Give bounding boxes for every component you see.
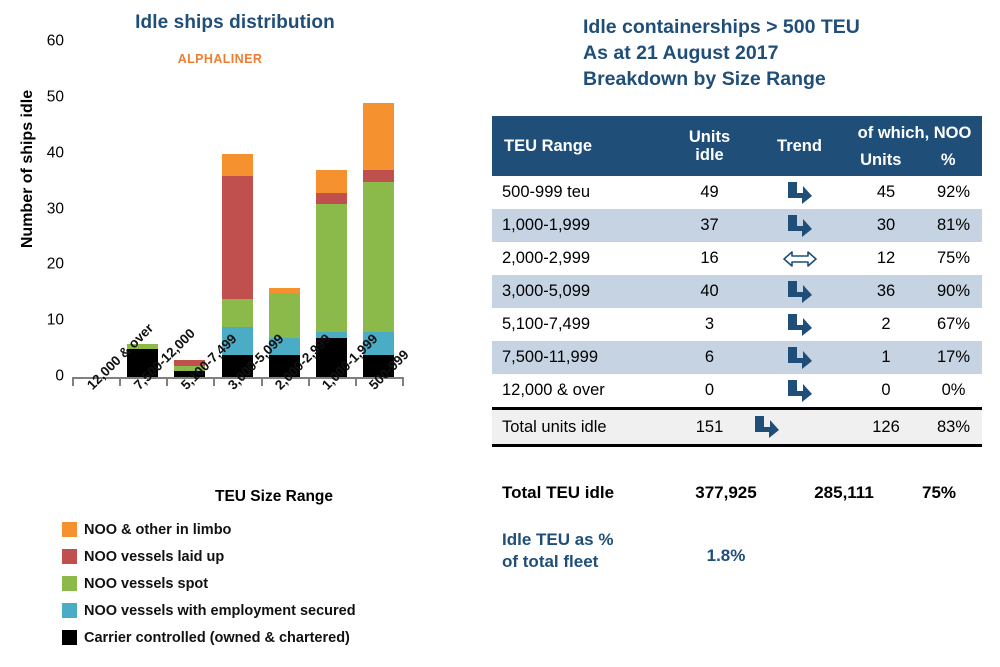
cell-trend bbox=[752, 275, 847, 308]
report-title-line-2: As at 21 August 2017 bbox=[583, 40, 1000, 66]
header-units-idle: Units idle bbox=[667, 116, 752, 176]
y-tick-0: 0 bbox=[55, 368, 64, 386]
table-total-row: Total units idle15112683% bbox=[492, 409, 982, 446]
legend-item: NOO vessels laid up bbox=[62, 543, 356, 570]
trend-down-icon bbox=[785, 345, 815, 371]
x-axis-labels: 12,000 & over7,500-12,0005,100-7,4993,00… bbox=[72, 382, 412, 492]
table-row: 2,000-2,999161275% bbox=[492, 242, 982, 275]
cell-noo-units: 12 bbox=[847, 242, 925, 275]
chart-title: Idle ships distribution bbox=[0, 12, 470, 34]
bar-segment bbox=[269, 293, 300, 338]
y-tick-60: 60 bbox=[47, 33, 64, 51]
trend-down-icon bbox=[785, 279, 815, 305]
table-row: 1,000-1,999373081% bbox=[492, 209, 982, 242]
bar-segment bbox=[316, 170, 347, 192]
header-noo-units: Units bbox=[847, 151, 915, 170]
cell-noo-units: 0 bbox=[847, 374, 925, 409]
cell-teu-range: 3,000-5,099 bbox=[492, 275, 667, 308]
header-teu-range: TEU Range bbox=[492, 116, 667, 176]
cell-total-noo-pct: 83% bbox=[925, 409, 982, 446]
legend-item: NOO vessels spot bbox=[62, 570, 356, 597]
report-title-line-1: Idle containerships > 500 TEU bbox=[583, 14, 1000, 40]
table-row: 12,000 & over000% bbox=[492, 374, 982, 409]
trend-down-icon bbox=[785, 180, 815, 206]
legend-label: NOO vessels laid up bbox=[84, 549, 224, 565]
cell-noo-pct: 17% bbox=[925, 341, 982, 374]
y-tick-10: 10 bbox=[47, 312, 64, 330]
total-teu-noo-value: 285,111 bbox=[785, 483, 903, 503]
y-tick-20: 20 bbox=[47, 256, 64, 274]
table-row: 7,500-11,9996117% bbox=[492, 341, 982, 374]
legend-item: NOO & other in limbo bbox=[62, 516, 356, 543]
table-total-body: Total units idle15112683% bbox=[492, 409, 982, 446]
legend-swatch-icon bbox=[62, 522, 77, 537]
cell-teu-range: 12,000 & over bbox=[492, 374, 667, 409]
legend-label: NOO vessels spot bbox=[84, 576, 208, 592]
header-noo-pct: % bbox=[915, 151, 983, 170]
header-units-idle-line2: idle bbox=[667, 146, 752, 164]
cell-noo-pct: 67% bbox=[925, 308, 982, 341]
x-axis-title: TEU Size Range bbox=[215, 488, 435, 506]
idle-pct-value: 1.8% bbox=[667, 529, 785, 566]
total-teu-label: Total TEU idle bbox=[492, 483, 667, 503]
cell-teu-range: 2,000-2,999 bbox=[492, 242, 667, 275]
cell-units-idle: 0 bbox=[667, 374, 752, 409]
bar-segment bbox=[363, 170, 394, 181]
cell-total-label: Total units idle bbox=[492, 409, 667, 446]
cell-noo-pct: 81% bbox=[925, 209, 982, 242]
summary-block: Total TEU idle 377,925 285,111 75% Idle … bbox=[492, 483, 992, 573]
report-title: Idle containerships > 500 TEU As at 21 A… bbox=[583, 14, 1000, 92]
cell-trend bbox=[752, 308, 847, 341]
plot-area: 0102030405060 bbox=[72, 42, 402, 377]
legend-swatch-icon bbox=[62, 603, 77, 618]
cell-noo-units: 1 bbox=[847, 341, 925, 374]
header-trend: Trend bbox=[752, 116, 847, 176]
slide-root: Idle ships distribution ALPHALINER Numbe… bbox=[0, 0, 1000, 667]
legend-swatch-icon bbox=[62, 576, 77, 591]
trend-down-icon bbox=[785, 213, 815, 239]
table-header-row: TEU Range Units idle Trend of which, NOO… bbox=[492, 116, 982, 176]
report-title-line-3: Breakdown by Size Range bbox=[583, 66, 1000, 92]
legend-item: Carrier controlled (owned & chartered) bbox=[62, 624, 356, 651]
cell-total-trend bbox=[752, 409, 847, 446]
header-of-which-noo-group: of which, NOO Units % bbox=[847, 116, 982, 176]
cell-teu-range: 1,000-1,999 bbox=[492, 209, 667, 242]
cell-noo-units: 30 bbox=[847, 209, 925, 242]
cell-noo-pct: 90% bbox=[925, 275, 982, 308]
bar-segment bbox=[363, 103, 394, 170]
trend-stable-icon bbox=[783, 249, 817, 269]
table-row: 3,000-5,099403690% bbox=[492, 275, 982, 308]
total-teu-value: 377,925 bbox=[667, 483, 785, 503]
cell-trend bbox=[752, 209, 847, 242]
table-body: 500-999 teu494592%1,000-1,999373081%2,00… bbox=[492, 176, 982, 409]
idle-pct-row: Idle TEU as % of total fleet 1.8% bbox=[492, 529, 992, 573]
y-tick-30: 30 bbox=[47, 200, 64, 218]
cell-noo-pct: 0% bbox=[925, 374, 982, 409]
cell-teu-range: 5,100-7,499 bbox=[492, 308, 667, 341]
header-units-idle-line1: Units bbox=[667, 128, 752, 146]
cell-noo-units: 36 bbox=[847, 275, 925, 308]
trend-down-icon bbox=[785, 312, 815, 338]
legend-item: NOO vessels with employment secured bbox=[62, 597, 356, 624]
cell-teu-range: 7,500-11,999 bbox=[492, 341, 667, 374]
cell-noo-pct: 92% bbox=[925, 176, 982, 209]
table-row: 5,100-7,4993267% bbox=[492, 308, 982, 341]
legend-swatch-icon bbox=[62, 630, 77, 645]
cell-teu-range: 500-999 teu bbox=[492, 176, 667, 209]
y-tick-50: 50 bbox=[47, 88, 64, 106]
chart-panel: Idle ships distribution ALPHALINER Numbe… bbox=[0, 0, 470, 667]
total-teu-pct-value: 75% bbox=[903, 483, 975, 503]
cell-units-idle: 40 bbox=[667, 275, 752, 308]
trend-down-icon bbox=[785, 378, 815, 404]
cell-trend bbox=[752, 341, 847, 374]
cell-units-idle: 37 bbox=[667, 209, 752, 242]
bar-segment bbox=[222, 154, 253, 176]
legend-label: NOO & other in limbo bbox=[84, 522, 231, 538]
bar-series-container bbox=[72, 42, 402, 377]
cell-noo-pct: 75% bbox=[925, 242, 982, 275]
idle-pct-label-line1: Idle TEU as % bbox=[502, 529, 667, 551]
bar-segment bbox=[316, 193, 347, 204]
bar-segment bbox=[222, 299, 253, 327]
chart-legend: NOO & other in limboNOO vessels laid upN… bbox=[62, 516, 356, 651]
cell-total-noo-units: 126 bbox=[847, 409, 925, 446]
idle-breakdown-table: TEU Range Units idle Trend of which, NOO… bbox=[492, 116, 982, 447]
cell-units-idle: 6 bbox=[667, 341, 752, 374]
bar-segment bbox=[316, 204, 347, 332]
cell-units-idle: 16 bbox=[667, 242, 752, 275]
report-panel: Idle containerships > 500 TEU As at 21 A… bbox=[470, 0, 1000, 667]
cell-noo-units: 2 bbox=[847, 308, 925, 341]
legend-label: NOO vessels with employment secured bbox=[84, 603, 356, 619]
cell-trend bbox=[752, 176, 847, 209]
cell-units-idle: 49 bbox=[667, 176, 752, 209]
cell-noo-units: 45 bbox=[847, 176, 925, 209]
header-of-which-noo: of which, NOO bbox=[847, 124, 982, 143]
trend-down-icon bbox=[752, 414, 782, 440]
cell-total-units: 151 bbox=[667, 409, 752, 446]
y-axis-title: Number of ships idle bbox=[19, 49, 37, 289]
idle-pct-label-line2: of total fleet bbox=[502, 551, 667, 573]
total-teu-row: Total TEU idle 377,925 285,111 75% bbox=[492, 483, 992, 503]
cell-trend bbox=[752, 242, 847, 275]
cell-trend bbox=[752, 374, 847, 409]
idle-pct-label: Idle TEU as % of total fleet bbox=[492, 529, 667, 573]
legend-swatch-icon bbox=[62, 549, 77, 564]
cell-units-idle: 3 bbox=[667, 308, 752, 341]
bar-segment bbox=[363, 182, 394, 333]
bar-segment bbox=[222, 176, 253, 299]
y-tick-40: 40 bbox=[47, 144, 64, 162]
table-row: 500-999 teu494592% bbox=[492, 176, 982, 209]
legend-label: Carrier controlled (owned & chartered) bbox=[84, 630, 350, 646]
